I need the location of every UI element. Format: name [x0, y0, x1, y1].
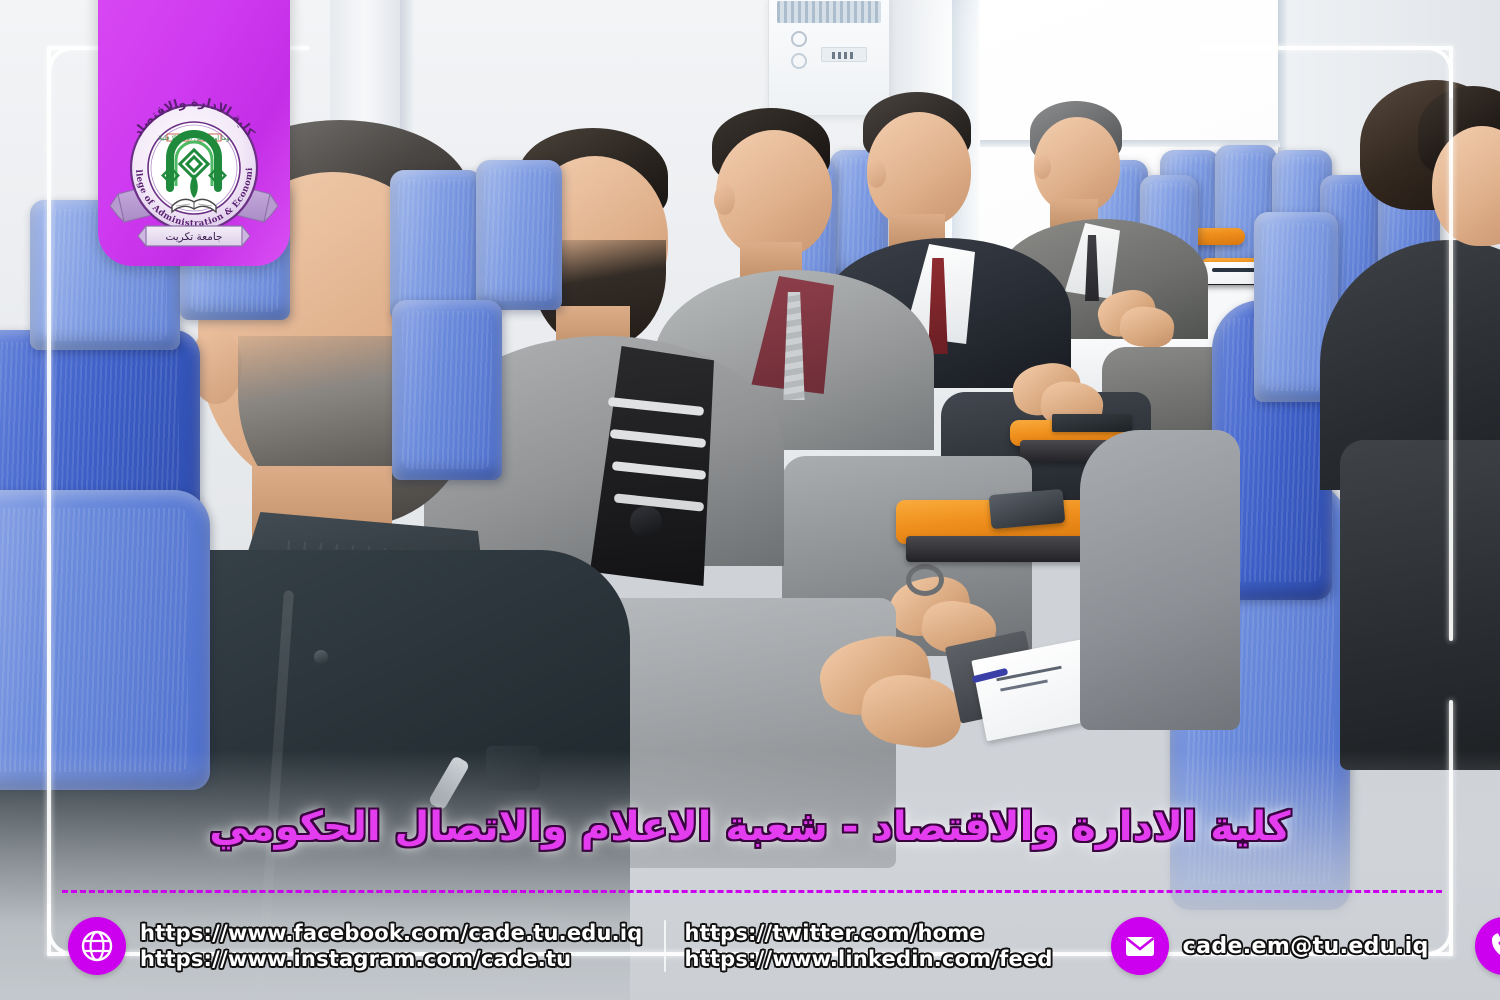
web-links: https://www.facebook.com/cade.tu.edu.iq …	[140, 921, 642, 971]
auditorium-seat	[392, 300, 502, 480]
ac-dial-icon	[791, 53, 807, 69]
footer-divider	[62, 890, 1442, 893]
college-logo-badge: كلية الادارة والاقتصاد College of Admini…	[98, 0, 290, 266]
email-group[interactable]: cade.em@tu.edu.iq	[1111, 917, 1429, 975]
ac-vent	[777, 1, 881, 23]
person-far-right	[1418, 86, 1500, 266]
email-address[interactable]: cade.em@tu.edu.iq	[1183, 934, 1429, 959]
banner-headline: كلية الادارة والاقتصاد - شعبة الاعلام وا…	[0, 806, 1500, 849]
jacket-button	[314, 650, 328, 664]
frame-border-right-upper	[1449, 46, 1453, 641]
ac-dial-icon	[791, 31, 807, 47]
auditorium-seat	[390, 170, 482, 320]
twitter-url[interactable]: https://twitter.com/home	[684, 921, 1052, 945]
instagram-url[interactable]: https://www.instagram.com/cade.tu	[140, 947, 642, 971]
phone-group[interactable]: 07718055128	[1475, 917, 1500, 975]
notebook	[1052, 414, 1132, 432]
smartphone	[989, 489, 1066, 529]
seat-cushion	[1080, 430, 1240, 730]
frame-corner-top-right	[1401, 46, 1453, 98]
social-group-web[interactable]: https://www.facebook.com/cade.tu.edu.iq …	[68, 917, 642, 975]
ac-label	[821, 47, 867, 62]
auditorium-seat	[476, 160, 562, 310]
phone-icon[interactable]	[1475, 917, 1500, 975]
banner-canvas: كلية الادارة والاقتصاد College of Admini…	[0, 0, 1500, 1000]
auditorium-seat	[0, 490, 210, 790]
envelope-icon[interactable]	[1111, 917, 1169, 975]
social-group-twitter-linkedin: https://twitter.com/home https://www.lin…	[684, 921, 1052, 971]
linkedin-url[interactable]: https://www.linkedin.com/feed	[684, 947, 1052, 971]
contact-footer: https://www.facebook.com/cade.tu.edu.iq …	[0, 906, 1500, 986]
facebook-url[interactable]: https://www.facebook.com/cade.tu.edu.iq	[140, 921, 642, 945]
globe-icon[interactable]	[68, 917, 126, 975]
footer-separator	[664, 920, 666, 972]
frame-corner-top-left	[47, 46, 99, 98]
svg-text:جامعة تكريت: جامعة تكريت	[165, 231, 222, 243]
wristwatch	[906, 564, 944, 596]
cade-seal-icon: كلية الادارة والاقتصاد College of Admini…	[110, 66, 278, 254]
